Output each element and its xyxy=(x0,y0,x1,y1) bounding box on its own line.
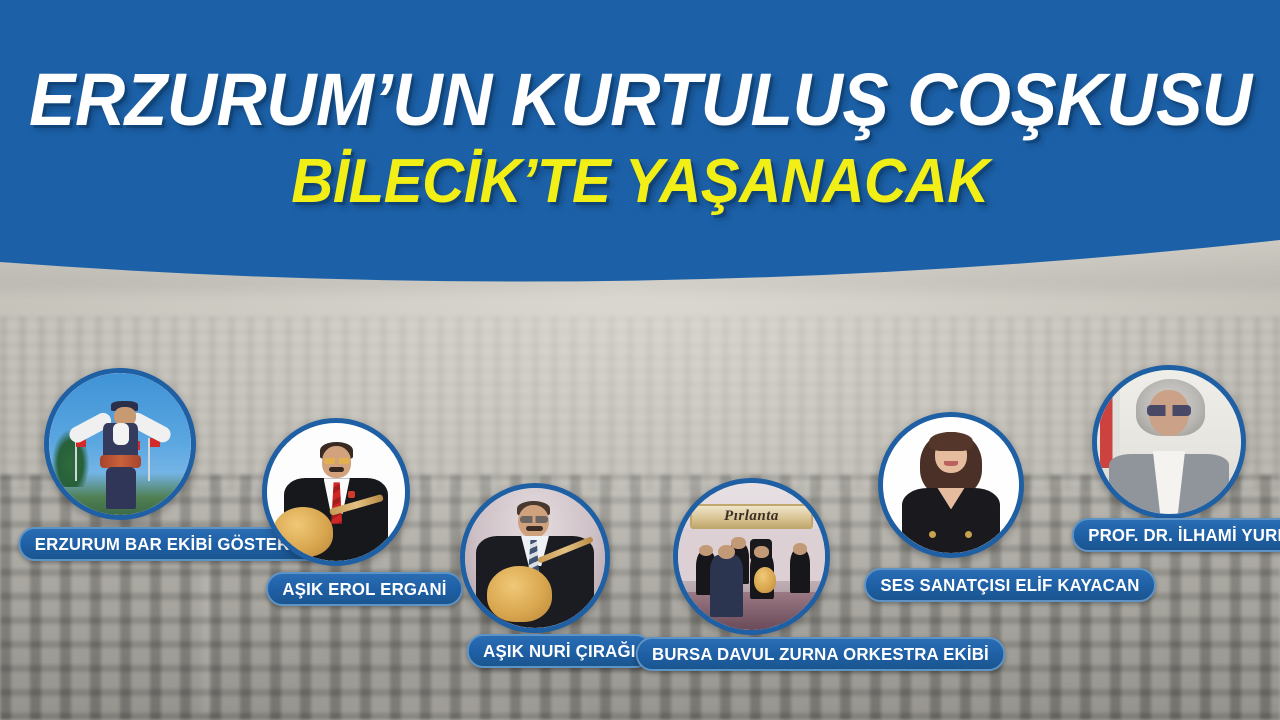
venue-sign-text: Pırlanta xyxy=(692,506,811,527)
venue-sign: Pırlanta xyxy=(690,504,813,529)
portrait-asik-erol-ergani xyxy=(262,418,410,566)
portrait-elif-kayacan xyxy=(878,412,1024,558)
portrait-ilhami-yurdakul xyxy=(1092,365,1246,519)
illustration-asik-nuri-ciragi xyxy=(465,488,605,628)
illustration-folk-dancer xyxy=(49,373,191,515)
label-ilhami-yurdakul: PROF. DR. İLHAMİ YURDAKUL xyxy=(1072,518,1280,552)
illustration-ilhami-yurdakul xyxy=(1097,370,1241,514)
illustration-elif-kayacan xyxy=(883,417,1019,553)
event-poster: ERZURUM’UN KURTULUŞ COŞKUSU BİLECİK’TE Y… xyxy=(0,0,1280,720)
header-title-block: ERZURUM’UN KURTULUŞ COŞKUSU BİLECİK’TE Y… xyxy=(0,0,1280,270)
baglama-body-icon xyxy=(273,507,334,557)
label-elif-kayacan: SES SANATÇISI ELİF KAYACAN xyxy=(864,568,1156,602)
page-title-line-1: ERZURUM’UN KURTULUŞ COŞKUSU xyxy=(29,63,1252,137)
page-title-line-2: BİLECİK’TE YAŞANACAK xyxy=(291,151,989,213)
illustration-asik-erol-ergani xyxy=(267,423,405,561)
portrait-bursa-davul-zurna-orkestra: Pırlanta xyxy=(673,478,830,635)
label-asik-nuri-ciragi: AŞIK NURİ ÇIRAĞI xyxy=(467,634,652,668)
portrait-erzurum-bar-ekibi xyxy=(44,368,196,520)
portrait-asik-nuri-ciragi xyxy=(460,483,610,633)
label-asik-erol-ergani: AŞIK EROL ERGANİ xyxy=(266,572,463,606)
illustration-orchestra-stage: Pırlanta xyxy=(678,483,825,630)
baglama-body-icon xyxy=(487,566,551,622)
label-bursa-davul-zurna-orkestra: BURSA DAVUL ZURNA ORKESTRA EKİBİ xyxy=(636,637,1006,671)
